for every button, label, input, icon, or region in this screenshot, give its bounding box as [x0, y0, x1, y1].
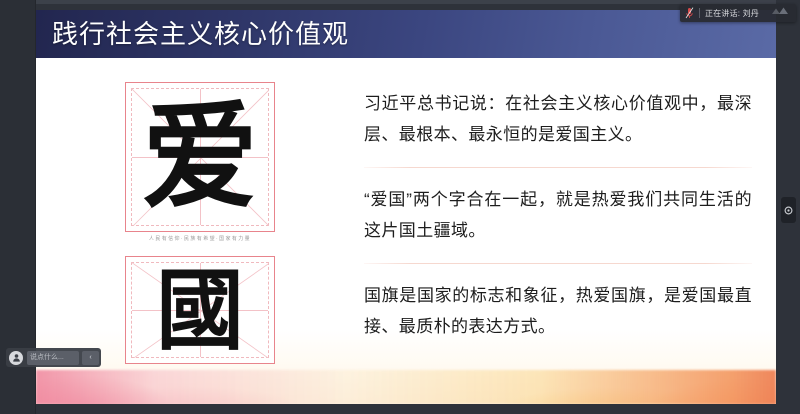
screen-share-viewport: 践行社会主义核心价值观 爱 人民有信仰·民族有希望·国家有力量	[0, 0, 800, 414]
page-title: 践行社会主义核心价值观	[52, 16, 349, 52]
user-avatar-icon	[9, 351, 23, 365]
chat-input-bar[interactable]: ‹	[6, 348, 101, 367]
presentation-slide: 践行社会主义核心价值观 爱 人民有信仰·民族有希望·国家有力量	[36, 10, 776, 404]
paragraph-1: 习近平总书记说：在社会主义核心价值观中，最深层、最根本、最永恒的是爱国主义。	[364, 88, 752, 150]
microphone-muted-icon	[685, 7, 694, 19]
calligraphy-column: 爱 人民有信仰·民族有希望·国家有力量 國	[125, 82, 275, 364]
calligraphy-caption: 人民有信仰·民族有希望·国家有力量	[125, 234, 275, 244]
slide-body-text: 习近平总书记说：在社会主义核心价值观中，最深层、最根本、最永恒的是爱国主义。 “…	[364, 88, 752, 342]
active-speaker-label: 正在讲话: 刘丹	[705, 8, 759, 19]
chat-collapse-button[interactable]: ‹	[82, 351, 99, 365]
watercolor-band	[36, 370, 776, 404]
paragraph-2: “爱国”两个字合在一起，就是热爱我们共同生活的这片国土疆域。	[364, 184, 752, 246]
slide-title-band: 践行社会主义核心价值观	[36, 10, 776, 58]
app-logo-icon	[764, 4, 792, 22]
calligraphy-guo: 國	[125, 256, 275, 364]
calligraphy-glyph: 國	[126, 257, 274, 363]
calligraphy-glyph: 爱	[126, 83, 274, 231]
active-speaker-badge: 正在讲话: 刘丹	[680, 4, 796, 22]
paragraph-divider	[364, 167, 752, 168]
chat-message-input[interactable]	[27, 351, 79, 365]
calligraphy-ai: 爱	[125, 82, 275, 232]
badge-separator	[699, 8, 700, 18]
paragraph-3: 国旗是国家的标志和象征，热爱国旗，是爱国最直接、最质朴的表达方式。	[364, 280, 752, 342]
collapse-panel-icon[interactable]	[781, 197, 796, 223]
paragraph-divider	[364, 263, 752, 264]
